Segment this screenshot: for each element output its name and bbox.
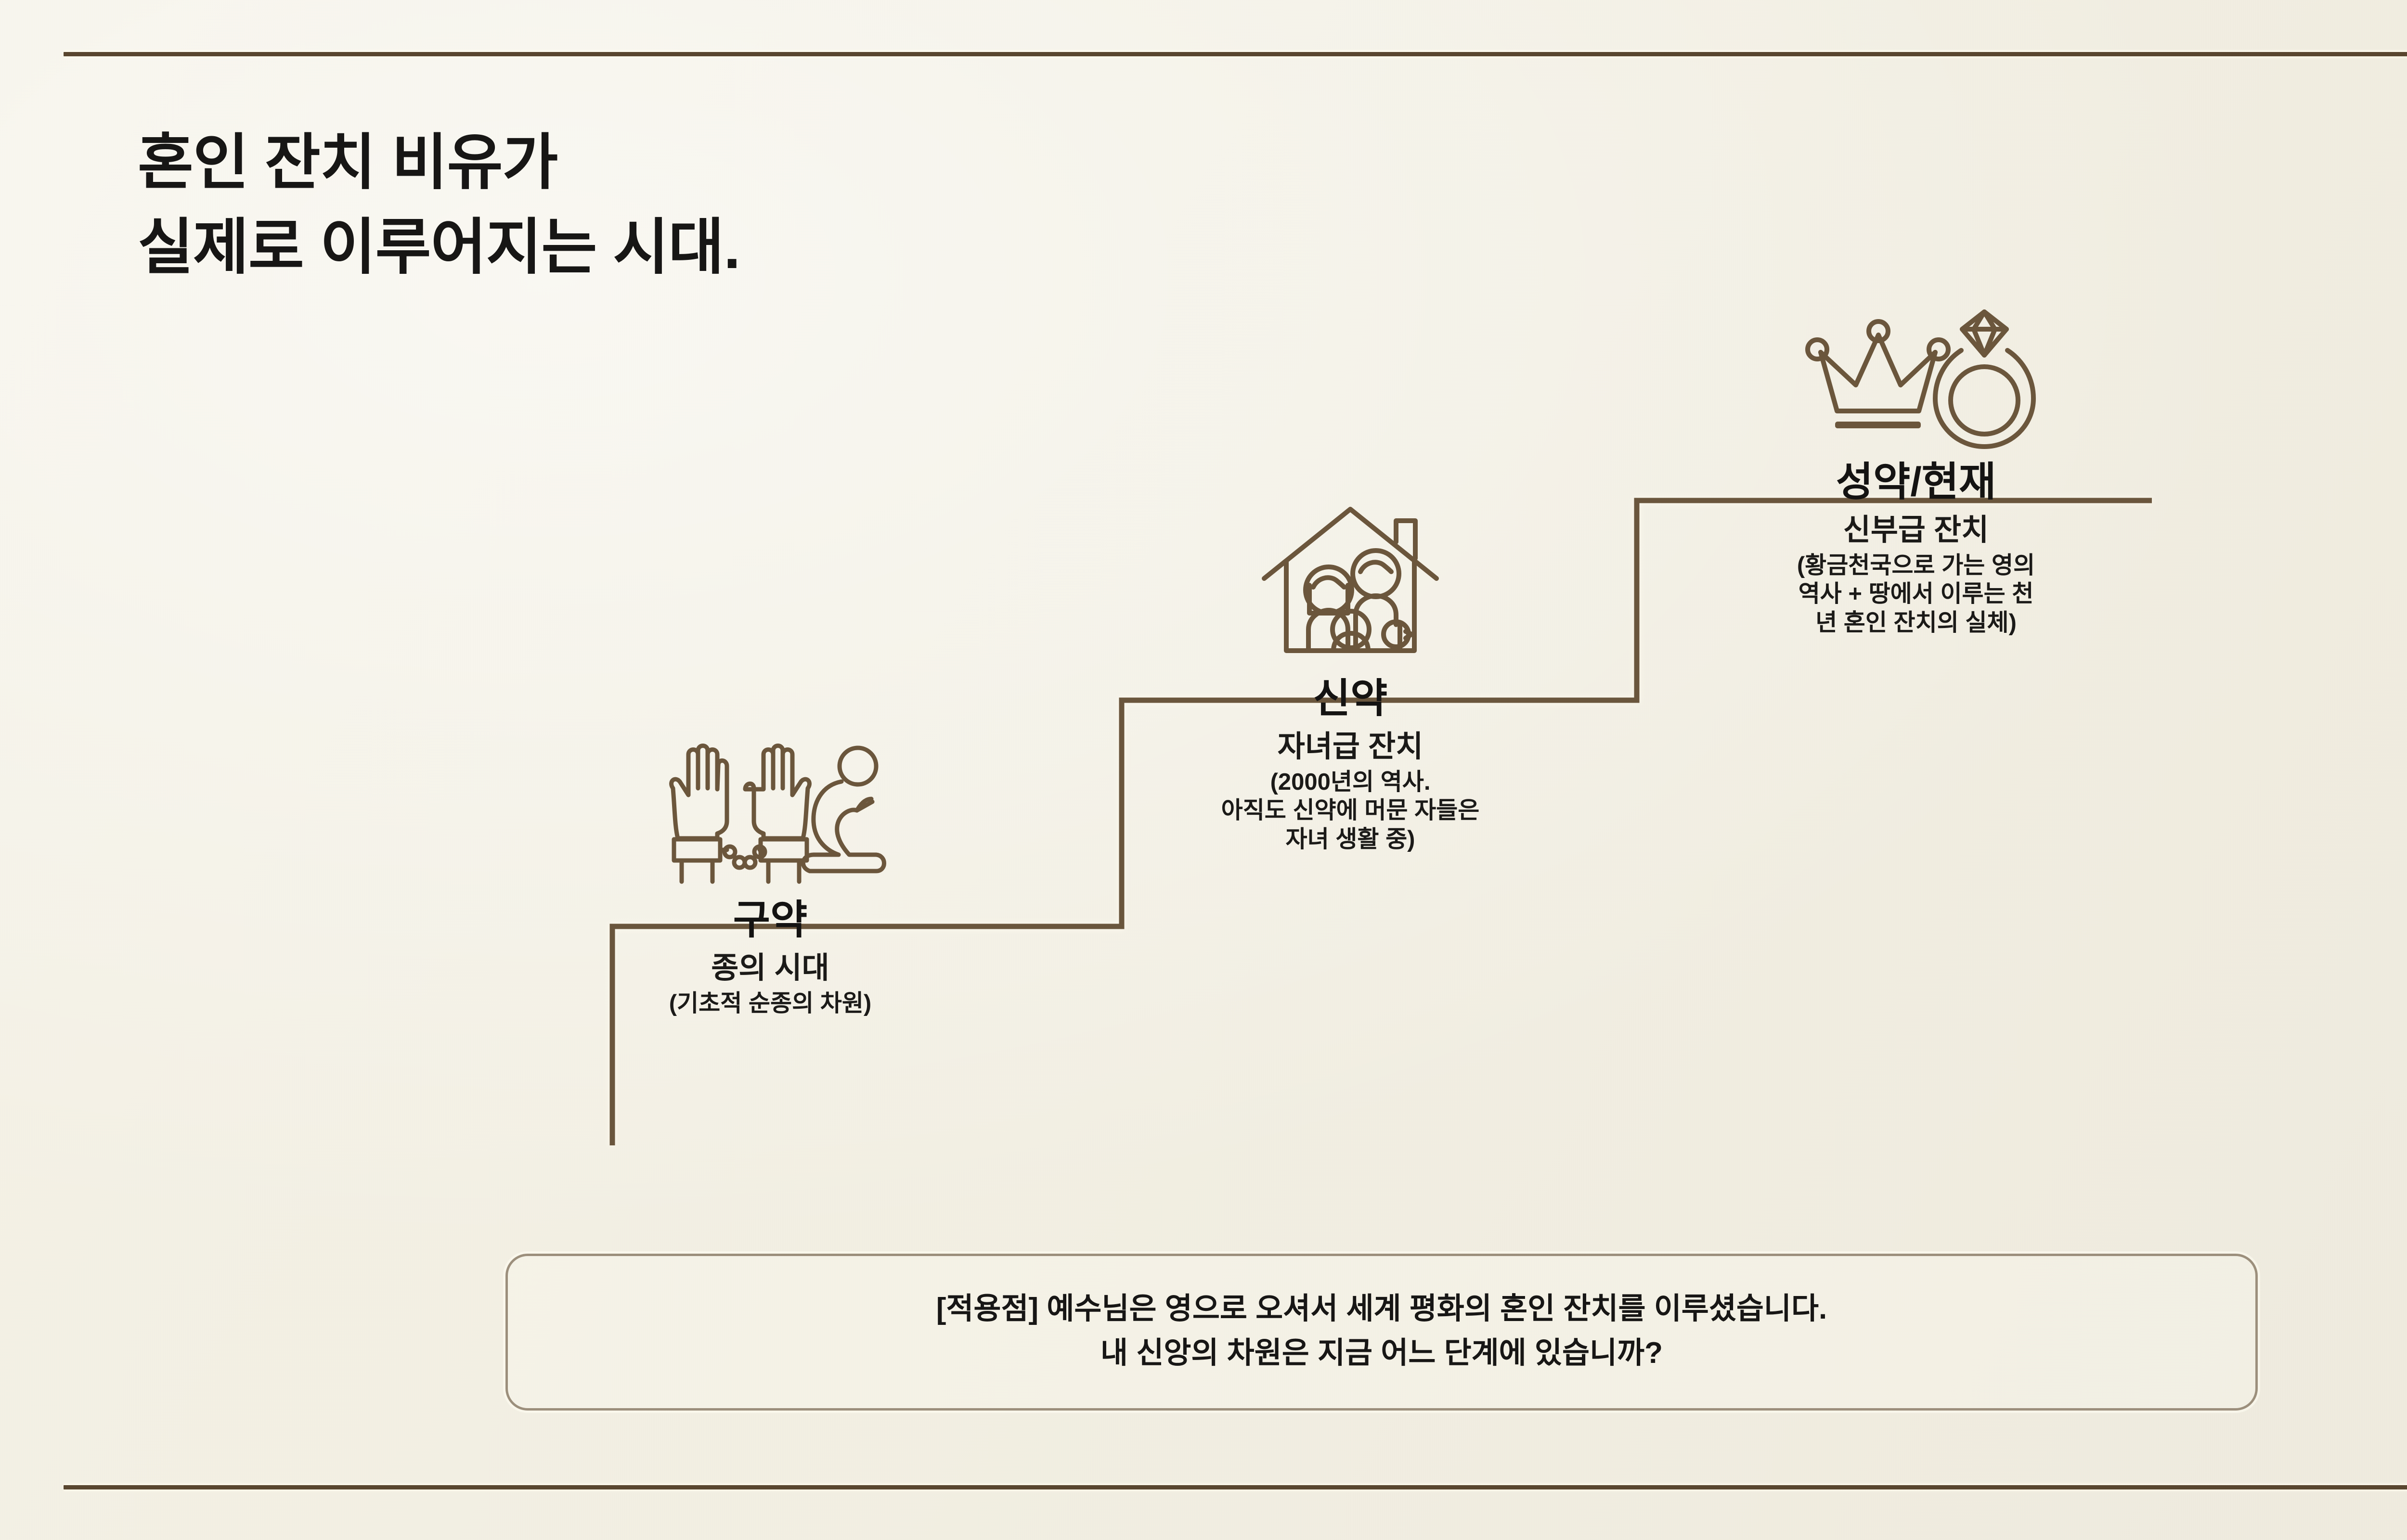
step-note: (황금천국으로 가는 영의 역사 + 땅에서 이루는 천 년 혼인 잔치의 실체… — [1646, 552, 2186, 638]
step-subtitle: 자녀급 잔치 — [1049, 729, 1651, 765]
application-callout-box: [적용점] 예수님은 영으로 오셔서 세계 평화의 혼인 잔치를 이루셨습니다.… — [505, 1254, 2258, 1411]
step-subtitle: 종의 시대 — [515, 950, 1025, 987]
handcuffed-hands-kneeling-figure-icon — [650, 731, 891, 890]
top-divider-rule — [64, 52, 2407, 56]
step-subtitle: 신부급 잔치 — [1646, 512, 2186, 549]
step-new-testament: 신약 자녀급 잔치 (2000년의 역사. 아직도 신약에 머문 자들은 자녀 … — [1049, 496, 1651, 854]
step-title: 성약/현재 — [1646, 459, 2186, 504]
slide-canvas: 혼인 잔치 비유가 실제로 이루어지는 시대. — [0, 0, 2407, 1540]
crown-and-ring-icon — [1791, 308, 2041, 452]
step-present-covenant: 성약/현재 신부급 잔치 (황금천국으로 가는 영의 역사 + 땅에서 이루는 … — [1646, 308, 2186, 638]
callout-line-1: [적용점] 예수님은 영으로 오셔서 세계 평화의 혼인 잔치를 이루셨습니다. — [537, 1287, 2226, 1331]
page-title: 혼인 잔치 비유가 실제로 이루어지는 시대. — [138, 120, 740, 290]
step-title: 구약 — [515, 897, 1025, 942]
house-family-icon — [1252, 496, 1449, 669]
step-note: (기초적 순종의 차원) — [515, 989, 1025, 1018]
bottom-divider-rule — [64, 1485, 2407, 1489]
step-title: 신약 — [1049, 676, 1651, 721]
step-old-testament: 구약 종의 시대 (기초적 순종의 차원) — [515, 731, 1025, 1018]
step-note: (2000년의 역사. 아직도 신약에 머문 자들은 자녀 생활 중) — [1049, 768, 1651, 854]
callout-line-2: 내 신앙의 차원은 지금 어느 단계에 있습니까? — [537, 1331, 2226, 1375]
